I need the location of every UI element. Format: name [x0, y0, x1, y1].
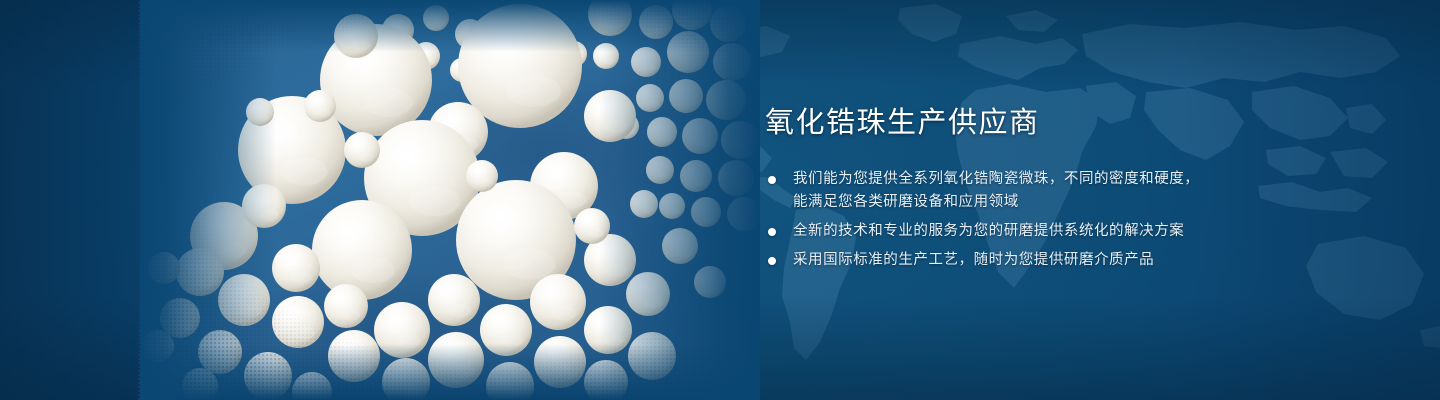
banner-content: 氧化锆珠生产供应商 我们能为您提供全系列氧化锆陶瓷微珠，不同的密度和硬度， 能满…: [765, 104, 1405, 272]
bullet-dot-icon: [768, 176, 776, 184]
zirconia-beads-photo: [140, 0, 760, 400]
feature-item: 采用国际标准的生产工艺，随时为您提供研磨介质产品: [765, 249, 1405, 272]
bullet-dot-icon: [768, 257, 776, 265]
feature-text-line: 能满足您各类研磨设备和应用领域: [793, 191, 1405, 214]
feature-text-line: 全新的技术和专业的服务为您的研磨提供系统化的解决方案: [793, 220, 1405, 243]
feature-text-line: 采用国际标准的生产工艺，随时为您提供研磨介质产品: [793, 249, 1405, 272]
banner-headline: 氧化锆珠生产供应商: [765, 104, 1405, 142]
feature-text-line: 我们能为您提供全系列氧化锆陶瓷微珠，不同的密度和硬度，: [793, 168, 1405, 191]
hero-banner: 氧化锆珠生产供应商 我们能为您提供全系列氧化锆陶瓷微珠，不同的密度和硬度， 能满…: [0, 0, 1440, 400]
feature-item: 我们能为您提供全系列氧化锆陶瓷微珠，不同的密度和硬度， 能满足您各类研磨设备和应…: [765, 168, 1405, 214]
feature-item: 全新的技术和专业的服务为您的研磨提供系统化的解决方案: [765, 220, 1405, 243]
bullet-dot-icon: [768, 228, 776, 236]
photo-edge-fade: [140, 0, 760, 400]
feature-list: 我们能为您提供全系列氧化锆陶瓷微珠，不同的密度和硬度， 能满足您各类研磨设备和应…: [765, 168, 1405, 272]
